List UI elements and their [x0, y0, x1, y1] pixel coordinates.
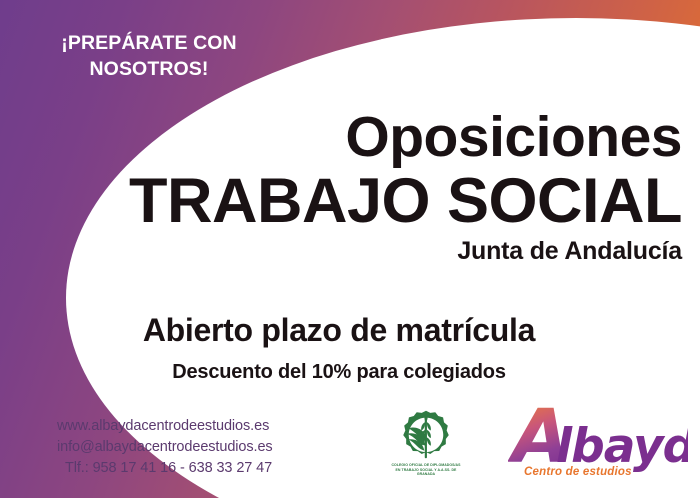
institutional-seal: COLEGIO OFICIAL DE DIPLOMADOS/AS EN TRAB… [377, 407, 475, 477]
tagline: ¡PREPÁRATE CON NOSOTROS! [24, 30, 274, 83]
albayda-logo-tagline: Centro de estudios [524, 466, 632, 478]
headline-trabajo-social: TRABAJO SOCIAL [129, 168, 682, 234]
enrollment-open-text: Abierto plazo de matrícula [0, 312, 678, 349]
contact-block: www.albaydacentrodeestudios.es info@alba… [57, 416, 273, 479]
discount-text: Descuento del 10% para colegiados [0, 361, 678, 384]
gear-hand-wheat-icon [395, 407, 457, 462]
seal-caption-line3: GRANADA [377, 472, 475, 477]
contact-website[interactable]: www.albaydacentrodeestudios.es [57, 416, 273, 437]
albayda-logo[interactable]: A lbayda Centro de estudios [508, 392, 688, 487]
poster-canvas: ¡PREPÁRATE CON NOSOTROS! Oposiciones TRA… [0, 0, 700, 498]
headline-block: Oposiciones TRABAJO SOCIAL Junta de Anda… [129, 108, 682, 266]
subhead-block: Abierto plazo de matrícula Descuento del… [0, 312, 678, 384]
seal-caption: COLEGIO OFICIAL DE DIPLOMADOS/AS EN TRAB… [377, 463, 475, 477]
headline-junta-andalucia: Junta de Andalucía [129, 238, 682, 266]
headline-oposiciones: Oposiciones [129, 108, 682, 166]
contact-email[interactable]: info@albaydacentrodeestudios.es [57, 437, 273, 458]
contact-phones[interactable]: Tlf.: 958 17 41 16 - 638 33 27 47 [57, 458, 273, 479]
